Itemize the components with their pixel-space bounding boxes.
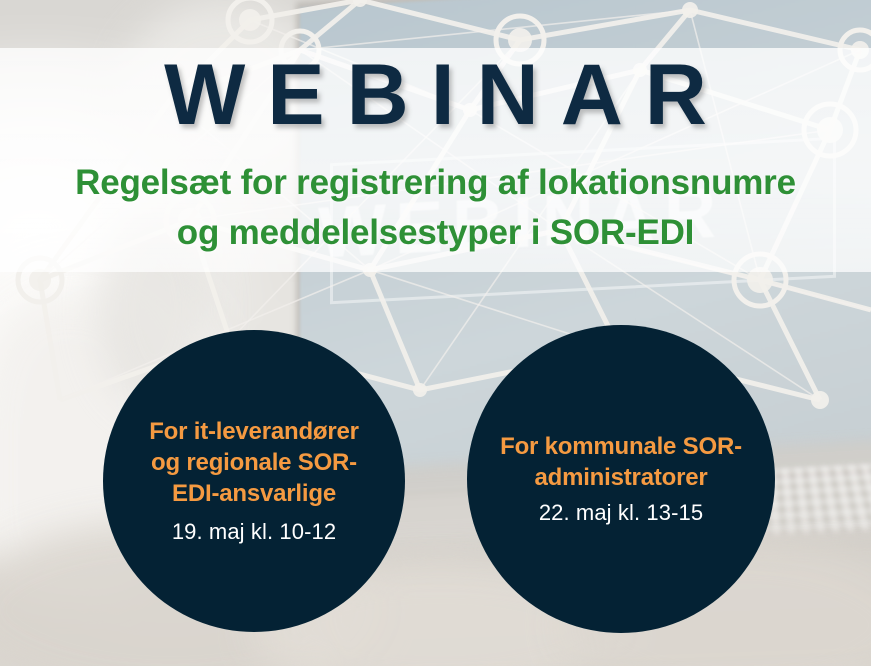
page-title: WEBINAR — [0, 52, 871, 138]
subtitle-line-2: og meddelelsestyper i SOR-EDI — [0, 208, 871, 258]
session-title-line-2: og regionale SOR- — [149, 448, 359, 479]
page-subtitle: Regelsæt for registrering af lokationsnu… — [0, 158, 871, 257]
session-title-line-2: administratorer — [500, 463, 742, 494]
session-datetime: 19. maj kl. 10-12 — [172, 519, 336, 545]
session-title: For it-leverandører og regionale SOR- ED… — [129, 417, 379, 509]
session-title-line-3: EDI-ansvarlige — [149, 479, 359, 510]
session-circle-it-leverandorer: For it-leverandører og regionale SOR- ED… — [103, 330, 405, 632]
session-title-line-1: For it-leverandører — [149, 417, 359, 448]
webinar-poster: WEBINAR — [0, 0, 871, 666]
subtitle-line-1: Regelsæt for registrering af lokationsnu… — [0, 158, 871, 208]
session-circle-kommunale-sor-administratorer: For kommunale SOR- administratorer 22. m… — [467, 325, 775, 633]
session-datetime: 22. maj kl. 13-15 — [539, 500, 703, 526]
session-title: For kommunale SOR- administratorer — [480, 432, 762, 493]
session-title-line-1: For kommunale SOR- — [500, 432, 742, 463]
